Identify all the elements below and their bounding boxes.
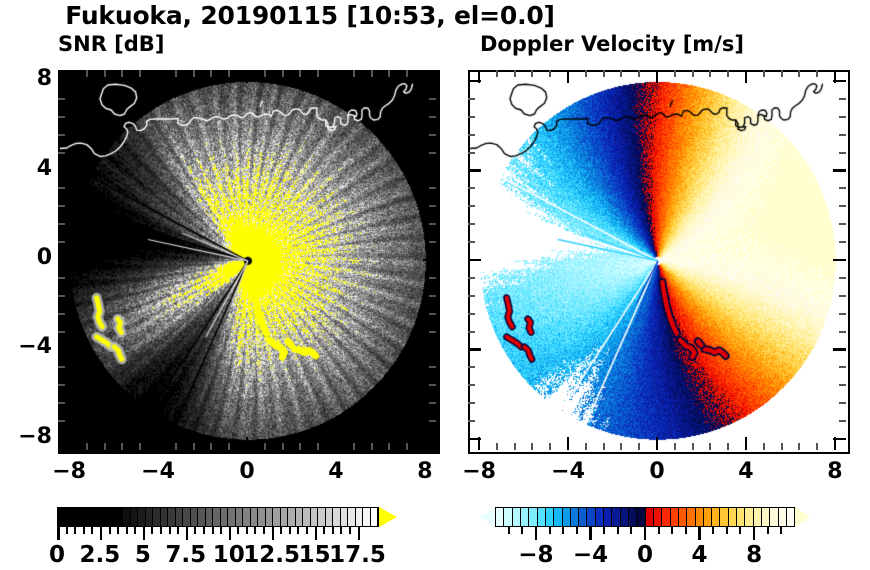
snr-colorbar-tick [229,527,232,540]
x-tick-label: 0 [629,459,685,484]
doppler-colorbar-minor-tick [576,527,578,534]
doppler-colorbar-tick [589,527,592,540]
doppler-colorbar-label: 4 [670,542,730,568]
doppler-colorbar-tick [535,527,538,540]
x-tick-label: 0 [219,459,275,484]
doppler-colorbar-cells [495,507,795,527]
doppler-radar-canvas [470,72,848,452]
doppler-colorbar-tick [753,527,756,540]
doppler-colorbar-minor-tick [685,527,687,534]
doppler-colorbar-minor-tick [767,527,769,534]
doppler-colorbar-minor-tick [521,527,523,534]
snr-colorbar-minor-tick [126,527,128,534]
snr-radar-canvas [60,72,438,452]
x-tick-label: −8 [451,459,507,484]
doppler-colorbar-minor-tick [549,527,551,534]
snr-colorbar-minor-tick [263,527,265,534]
snr-plot-panel[interactable] [58,70,440,454]
snr-colorbar-minor-tick [134,527,136,534]
snr-colorbar-minor-tick [289,527,291,534]
doppler-colorbar[interactable]: −8−4048 [480,507,810,527]
doppler-colorbar-label: −8 [506,542,566,568]
x-tick-label: −4 [540,459,596,484]
radar-figure: Fukuoka, 20190115 [10:53, el=0.0] SNR [d… [0,0,870,570]
doppler-colorbar-minor-tick [603,527,605,534]
x-tick-label: −8 [41,459,97,484]
snr-colorbar-minor-tick [160,527,162,534]
snr-colorbar-minor-tick [237,527,239,534]
snr-colorbar[interactable]: 02.557.51012.51517.5 [57,507,397,527]
snr-colorbar-minor-tick [91,527,93,534]
snr-colorbar-minor-tick [74,527,76,534]
snr-colorbar-tick [143,527,146,540]
snr-colorbar-minor-tick [332,527,334,534]
snr-colorbar-minor-tick [151,527,153,534]
snr-colorbar-minor-tick [66,527,68,534]
snr-colorbar-tick [358,527,361,540]
snr-colorbar-tick [315,527,318,540]
doppler-colorbar-label: −4 [560,542,620,568]
snr-colorbar-tick [186,527,189,540]
doppler-colorbar-minor-tick [658,527,660,534]
y-tick-label: 0 [6,245,52,270]
snr-colorbar-minor-tick [177,527,179,534]
snr-colorbar-minor-tick [340,527,342,534]
snr-colorbar-minor-tick [212,527,214,534]
y-tick-label: 8 [6,66,52,91]
snr-colorbar-minor-tick [169,527,171,534]
y-tick-label: −8 [6,424,52,449]
doppler-colorbar-over-arrow [795,507,810,527]
snr-colorbar-label: 17.5 [328,542,388,568]
doppler-colorbar-minor-tick [562,527,564,534]
doppler-colorbar-minor-tick [617,527,619,534]
y-tick-label: −4 [6,334,52,359]
doppler-colorbar-label: 0 [615,542,675,568]
snr-colorbar-minor-tick [323,527,325,534]
x-tick-label: −4 [130,459,186,484]
snr-colorbar-minor-tick [306,527,308,534]
snr-colorbar-minor-tick [220,527,222,534]
snr-colorbar-minor-tick [194,527,196,534]
doppler-colorbar-minor-tick [739,527,741,534]
doppler-colorbar-label: 8 [724,542,784,568]
snr-panel-title: SNR [dB] [58,32,268,56]
x-tick-label: 8 [397,459,453,484]
snr-colorbar-over-arrow [379,507,397,527]
snr-colorbar-minor-tick [280,527,282,534]
snr-colorbar-minor-tick [297,527,299,534]
doppler-colorbar-tick [698,527,701,540]
doppler-colorbar-minor-tick [630,527,632,534]
doppler-colorbar-minor-tick [671,527,673,534]
doppler-plot-panel[interactable] [468,70,850,454]
snr-colorbar-minor-tick [117,527,119,534]
page-title: Fukuoka, 20190115 [10:53, el=0.0] [0,1,620,30]
doppler-colorbar-minor-tick [712,527,714,534]
snr-colorbar-minor-tick [349,527,351,534]
doppler-panel-title: Doppler Velocity [m/s] [480,32,810,56]
doppler-colorbar-minor-tick [726,527,728,534]
snr-colorbar-tick [272,527,275,540]
doppler-colorbar-minor-tick [780,527,782,534]
snr-colorbar-tick [100,527,103,540]
y-tick-label: 4 [6,156,52,181]
x-tick-label: 8 [807,459,863,484]
snr-colorbar-gradient [57,507,379,527]
snr-colorbar-minor-tick [254,527,256,534]
doppler-colorbar-minor-tick [508,527,510,534]
snr-colorbar-minor-tick [109,527,111,534]
doppler-colorbar-under-arrow [480,507,495,527]
snr-colorbar-minor-tick [203,527,205,534]
x-tick-label: 4 [308,459,364,484]
x-tick-label: 4 [718,459,774,484]
snr-colorbar-minor-tick [246,527,248,534]
snr-colorbar-tick [57,527,60,540]
doppler-colorbar-tick [644,527,647,540]
snr-colorbar-minor-tick [83,527,85,534]
